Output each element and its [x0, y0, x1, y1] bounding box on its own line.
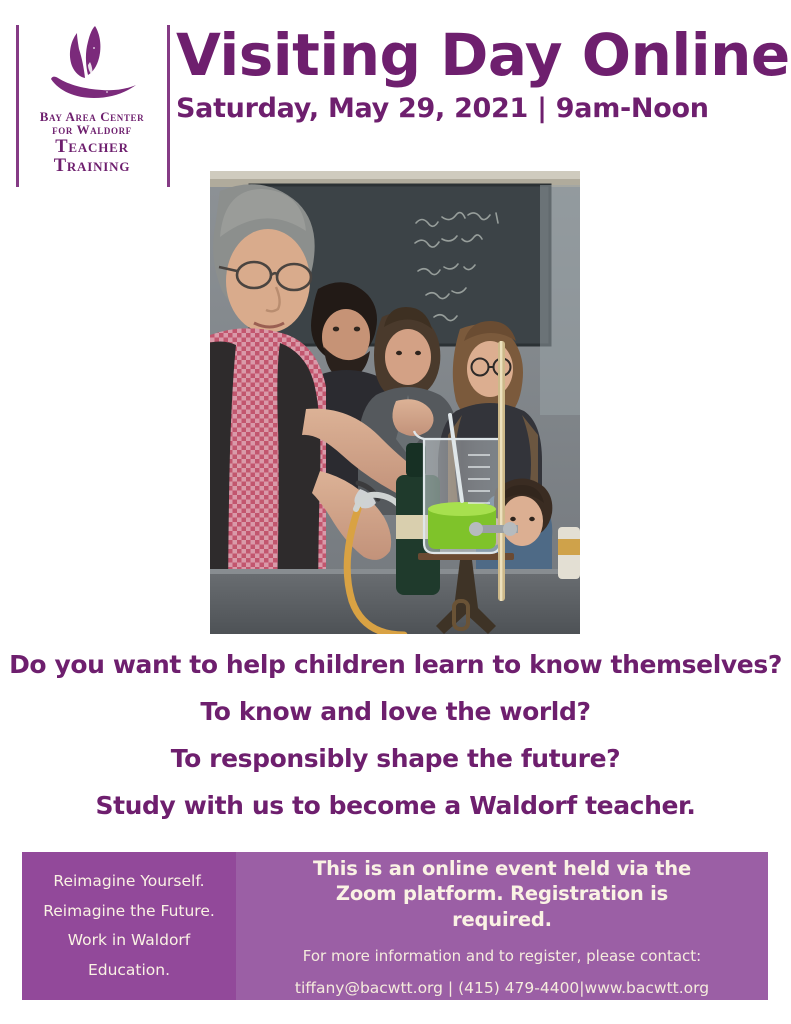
flyer-page: Bay Area Center for Waldorf Teacher Trai…	[0, 0, 791, 1024]
event-datetime: Saturday, May 29, 2021 | 9am-Noon	[176, 94, 776, 124]
tagline-1: Do you want to help children learn to kn…	[0, 652, 791, 677]
slogan-line-3: Work in Waldorf	[68, 933, 191, 949]
tagline-2: To know and love the world?	[0, 699, 791, 724]
tagline-4: Study with us to become a Waldorf teache…	[0, 793, 791, 818]
logo-wordmark: Bay Area Center for Waldorf Teacher Trai…	[40, 110, 144, 176]
slogan-line-1: Reimagine Yourself.	[53, 874, 204, 890]
title-block: Visiting Day Online Saturday, May 29, 20…	[176, 26, 776, 123]
organization-logo: Bay Area Center for Waldorf Teacher Trai…	[22, 22, 162, 188]
logo-rule-right	[167, 25, 170, 187]
flyer-header: Bay Area Center for Waldorf Teacher Trai…	[0, 0, 791, 168]
logo-line-3: Teacher	[40, 138, 144, 157]
logo-line-4: Training	[40, 157, 144, 176]
footer-details-column: This is an online event held via the Zoo…	[236, 852, 768, 1000]
logo-line-2: for Waldorf	[40, 123, 144, 136]
logo-line-1: Bay Area Center	[40, 110, 144, 123]
page-title: Visiting Day Online	[176, 26, 776, 86]
slogan-line-2: Reimagine the Future.	[43, 904, 215, 920]
tagline-block: Do you want to help children learn to kn…	[0, 652, 791, 818]
footer-panel: Reimagine Yourself. Reimagine the Future…	[22, 852, 768, 1000]
footer-slogan-column: Reimagine Yourself. Reimagine the Future…	[22, 852, 236, 1000]
tagline-3: To responsibly shape the future?	[0, 746, 791, 771]
logo-rule-left	[16, 25, 19, 187]
waldorf-plant-leaf-icon	[37, 22, 147, 108]
event-photo	[210, 171, 580, 634]
contact-line[interactable]: tiffany@bacwtt.org | (415) 479-4400|www.…	[295, 981, 709, 997]
slogan-line-4: Education.	[88, 963, 170, 979]
registration-instruction: For more information and to register, pl…	[303, 949, 701, 964]
event-format-headline: This is an online event held via the Zoo…	[302, 856, 702, 933]
